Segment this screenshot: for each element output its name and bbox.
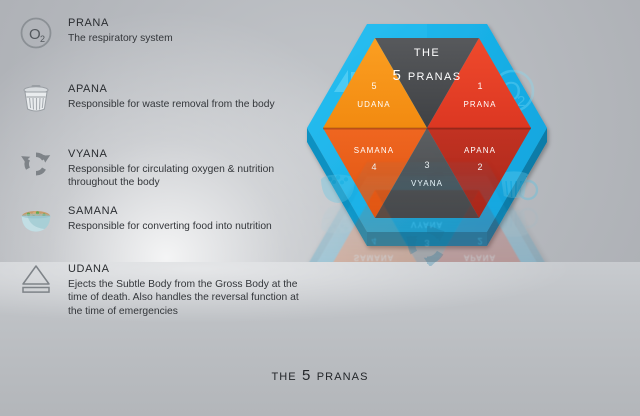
svg-text:2: 2: [40, 34, 45, 44]
legend-description: Ejects the Subtle Body from the Gross Bo…: [68, 278, 300, 319]
segment-number-udana: 5: [371, 81, 376, 91]
segment-number-samana: 4: [371, 162, 376, 172]
legend-title: Samana: [68, 202, 272, 218]
trash-can-icon: [14, 80, 58, 117]
segment-label-apana: Apana: [464, 142, 496, 156]
segment-label-prana: Prana: [463, 96, 496, 110]
legend-title: Vyana: [68, 145, 300, 161]
svg-text:O: O: [29, 26, 41, 43]
legend-item-vyana[interactable]: Vyana Responsible for circulating oxygen…: [14, 145, 300, 190]
segment-number-vyana: 3: [424, 160, 429, 170]
segment-label-udana: Udana: [357, 96, 391, 110]
legend-item-samana[interactable]: Samana Responsible for converting food i…: [14, 202, 272, 237]
eject-icon: [14, 260, 58, 318]
diagram-title-line2: 5 Pranas: [393, 67, 462, 84]
legend-description: Responsible for circulating oxygen & nut…: [68, 163, 300, 190]
trash-can-icon: [500, 171, 537, 199]
segment-number-prana: 1: [477, 81, 482, 91]
pranas-hexagon-diagram: O 2: [282, 8, 572, 266]
legend-title: Prana: [68, 14, 173, 30]
food-bowl-icon: [14, 202, 58, 237]
circular-arrows-icon: [14, 145, 58, 190]
legend-item-apana[interactable]: Apana Responsible for waste removal from…: [14, 80, 275, 117]
legend-item-udana[interactable]: Udana Ejects the Subtle Body from the Gr…: [14, 260, 300, 318]
page-caption: The 5 Pranas: [0, 367, 640, 384]
o2-circle-icon: O 2: [14, 14, 58, 51]
diagram-title-line1: The: [414, 43, 440, 60]
segment-number-apana: 2: [477, 162, 482, 172]
legend-title: Apana: [68, 80, 275, 96]
hexagon-svg: O 2: [282, 8, 572, 266]
legend-item-prana[interactable]: O 2 Prana The respiratory system: [14, 14, 173, 51]
legend-description: The respiratory system: [68, 32, 173, 46]
segment-label-samana: Samana: [354, 142, 394, 156]
legend-title: Udana: [68, 260, 300, 276]
legend-description: Responsible for converting food into nut…: [68, 220, 272, 234]
legend-description: Responsible for waste removal from the b…: [68, 98, 275, 112]
segment-label-vyana: Vyana: [411, 175, 443, 189]
legend-list: O 2 Prana The respiratory system: [0, 0, 300, 340]
